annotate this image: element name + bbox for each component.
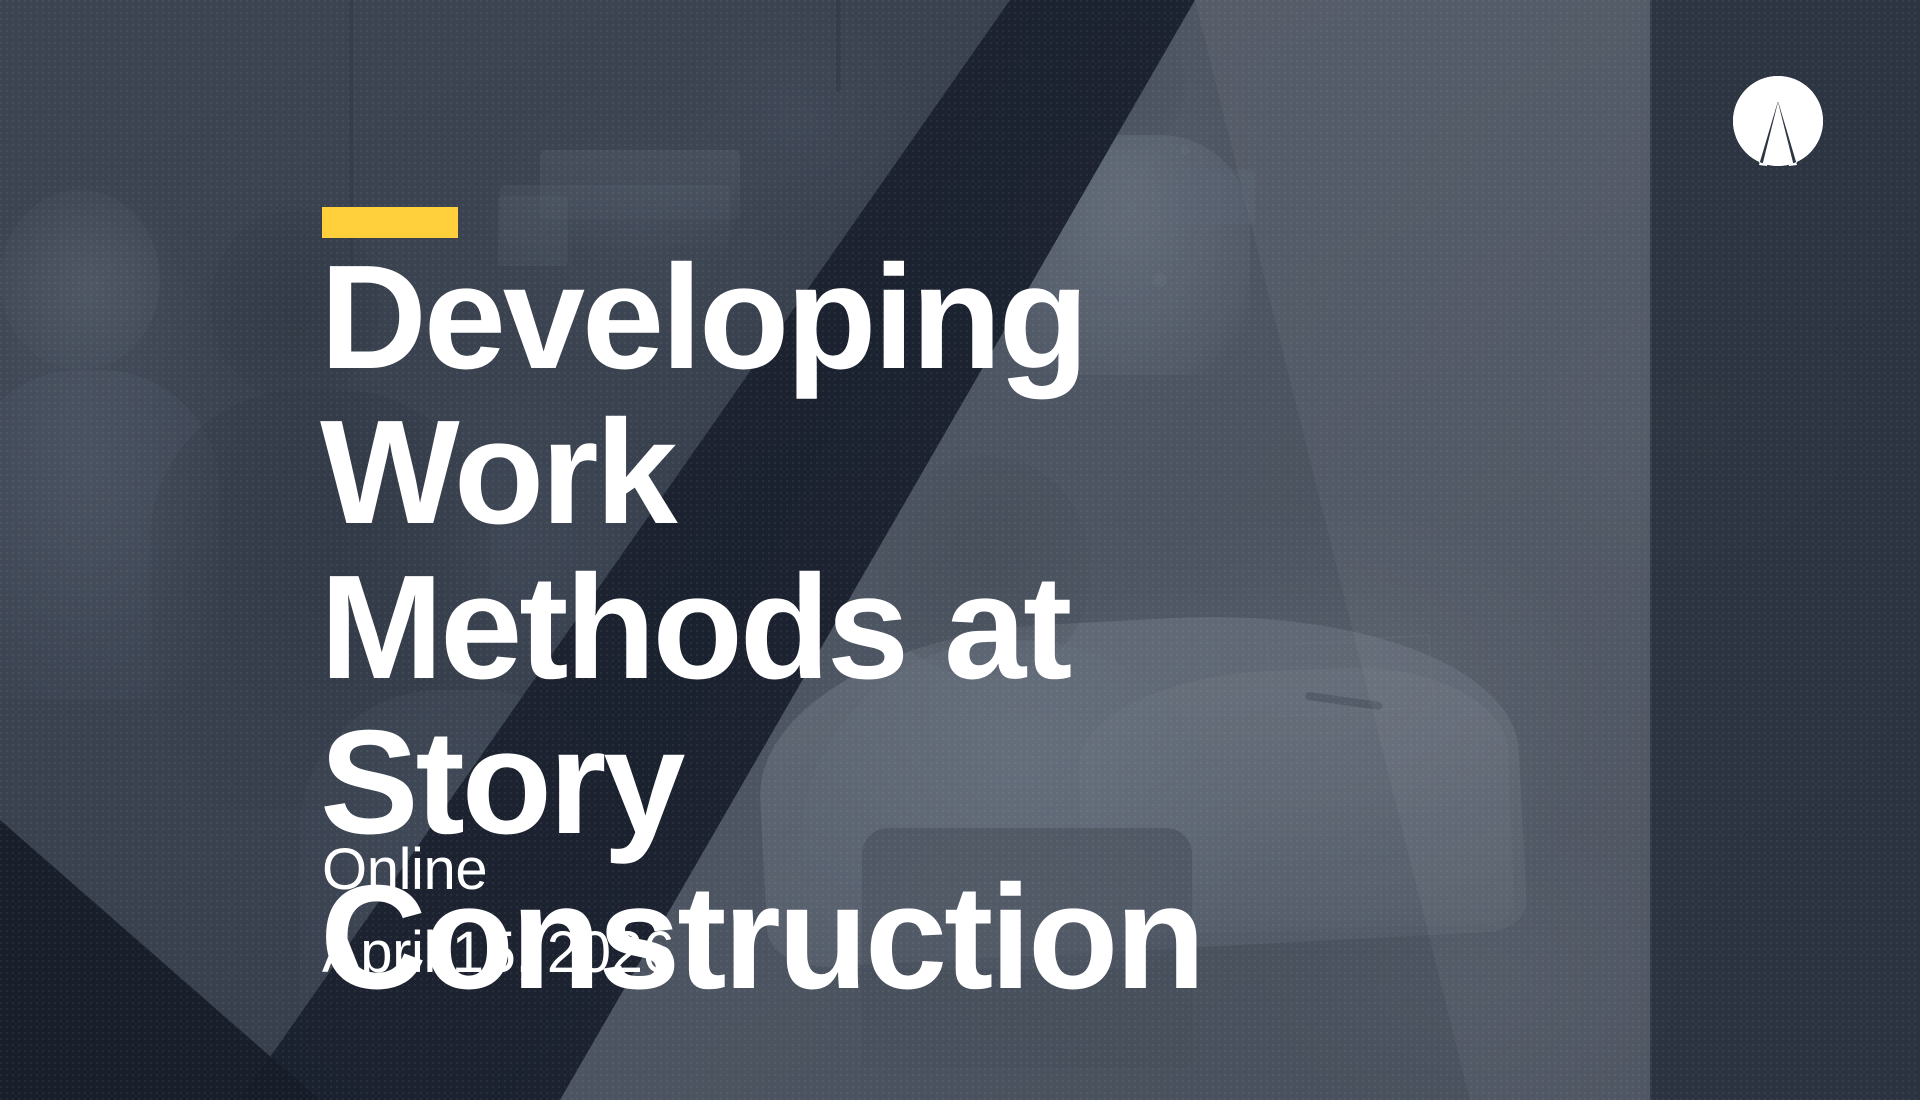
title-line-2: Methods at Story xyxy=(320,550,1430,860)
accent-bar xyxy=(322,207,458,238)
card-content: Developing Work Methods at Story Constru… xyxy=(0,0,1920,1100)
event-details: Online April 15, 2026 xyxy=(322,828,674,994)
title-line-1: Developing Work xyxy=(320,240,1430,550)
mountain-peak-icon xyxy=(1733,76,1823,166)
event-date: April 15, 2026 xyxy=(322,911,674,994)
brand-logo[interactable] xyxy=(1733,76,1823,166)
event-location: Online xyxy=(322,828,674,911)
title-card-canvas: Developing Work Methods at Story Constru… xyxy=(0,0,1920,1100)
